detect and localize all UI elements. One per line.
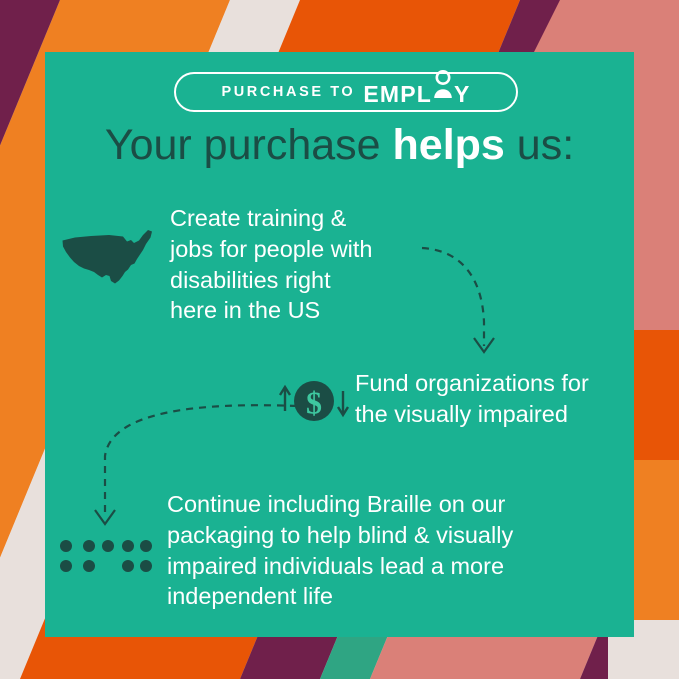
item-text-fund-organizations: Fund organizations for the visually impa… [355,368,625,430]
logo-small-text: PURCHASE TO [221,84,355,100]
page-title: Your purchase helps us: [45,123,634,168]
headline-part1: Your purchase [105,121,393,169]
us-map-icon [57,228,161,290]
dollar-sign-label: $ [306,385,322,421]
logo-big-text-before: EMPL [363,83,432,106]
braille-dots-icon [58,538,154,574]
item-text-create-training: Create training & jobs for people with d… [170,203,440,326]
logo-big-text: EMPLY [363,79,470,106]
item-text-braille-packaging: Continue including Braille on our packag… [167,489,567,612]
headline-part2: us: [505,121,574,169]
headline-emphasis: helps [393,121,505,169]
infographic-canvas: PURCHASE TO EMPLY Your purchase helps us… [0,0,679,679]
purchase-to-employ-logo: PURCHASE TO EMPLY [174,72,518,112]
logo-big-text-after: Y [454,83,471,106]
person-icon [432,79,454,102]
dashed-arrow-down-icon [410,230,520,370]
